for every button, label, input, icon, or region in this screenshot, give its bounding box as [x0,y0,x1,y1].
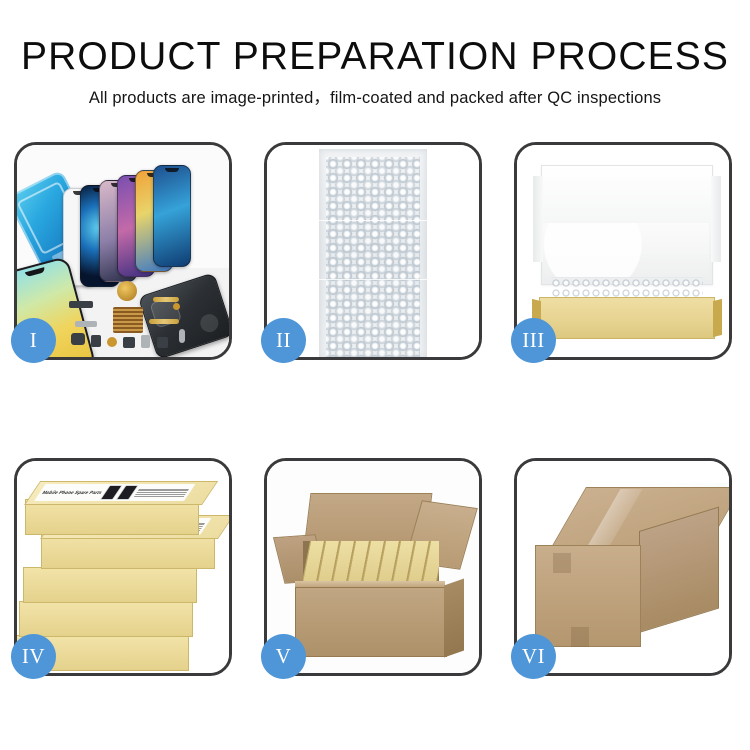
process-step-panel-3: III [514,142,732,360]
retail-box-label: Mobile Phone Spare Parts [34,484,195,501]
step-badge-4: IV [11,634,56,679]
open-mailer-box-icon [531,165,721,340]
step-badge-3: III [511,318,556,363]
process-step-panel-5: V [264,458,482,676]
header: PRODUCT PREPARATION PROCESS All products… [0,34,750,109]
open-shipping-carton-icon [279,493,471,663]
spare-parts-group [69,285,199,357]
process-steps-grid: I II [14,142,736,676]
product-preparation-infographic: PRODUCT PREPARATION PROCESS All products… [0,0,750,750]
retail-box-brand-text: Mobile Phone Spare Parts [41,490,103,495]
page-subtitle: All products are image-printed，film-coat… [0,87,750,109]
bubble-wrap-pouch-icon [319,149,427,357]
process-step-panel-2: II [264,142,482,360]
phone-display-fan [77,163,229,281]
step-badge-1: I [11,318,56,363]
process-step-panel-6: VI [514,458,732,676]
process-step-panel-1: I [14,142,232,360]
step-badge-2: II [261,318,306,363]
step-badge-6: VI [511,634,556,679]
step-badge-5: V [261,634,306,679]
sealed-shipping-carton-icon [531,487,721,657]
page-title: PRODUCT PREPARATION PROCESS [0,34,750,80]
process-step-panel-4: Mobile Phone Spare Parts Mobile Phone Sp… [14,458,232,676]
